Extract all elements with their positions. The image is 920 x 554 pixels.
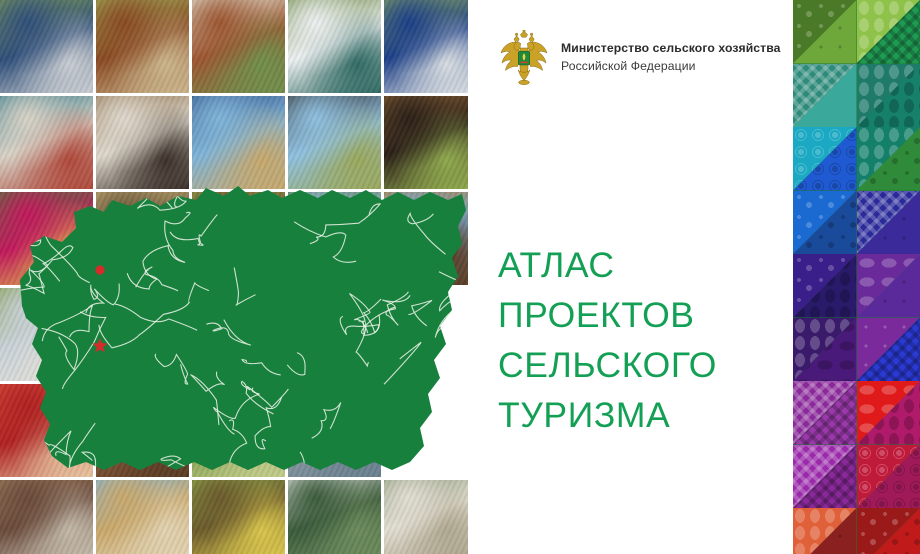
collage-photo-lakeside-wooden-houses bbox=[288, 192, 381, 285]
ornament-tile-r3-c0 bbox=[793, 191, 857, 255]
collage-photo-woman-with-horse bbox=[96, 0, 189, 93]
ornament-tile-r1-c1 bbox=[857, 64, 920, 128]
ornament-tile-r0-c1 bbox=[857, 0, 920, 64]
photo-collage bbox=[0, 0, 468, 554]
collage-photo-child-outdoors bbox=[0, 480, 93, 554]
ministry-block: Министерство сельского хозяйства Российс… bbox=[498, 30, 781, 86]
collage-photo-white-goat-standing bbox=[384, 480, 468, 554]
ornament-strip bbox=[793, 0, 920, 554]
collage-photo-petting-a-goat bbox=[0, 288, 93, 381]
ornament-tile-r0-c0 bbox=[793, 0, 857, 64]
collage-photo-blue-tractor-and-woman bbox=[384, 0, 468, 93]
ministry-title-line1: Министерство сельского хозяйства bbox=[561, 40, 781, 58]
collage-photo-children-on-hay bbox=[192, 96, 285, 189]
collage-photo-folk-dancers-in-costume bbox=[0, 192, 93, 285]
ornament-tile-r7-c0 bbox=[793, 445, 857, 509]
collage-photo-green-field-and-trees bbox=[192, 384, 285, 477]
collage-photo-caught-trout-fish bbox=[96, 192, 189, 285]
ornament-tile-r4-c1 bbox=[857, 254, 920, 318]
collage-photo-highland-cattle bbox=[384, 96, 468, 189]
page-title: АТЛАС ПРОЕКТОВ СЕЛЬСКОГО ТУРИЗМА bbox=[498, 240, 788, 440]
title-line-2: ПРОЕКТОВ bbox=[498, 290, 788, 340]
ornament-tile-r6-c0 bbox=[793, 381, 857, 445]
collage-photo-geese-swimming-on-pond bbox=[288, 480, 381, 554]
ornament-tile-r4-c0 bbox=[793, 254, 857, 318]
ministry-title-line2: Российской Федерации bbox=[561, 58, 781, 76]
collage-photo-woman-with-white-cows bbox=[96, 96, 189, 189]
collage-photo-geese-in-village-yard bbox=[288, 0, 381, 93]
ornament-tile-r2-c0 bbox=[793, 127, 857, 191]
title-line-1: АТЛАС bbox=[498, 240, 788, 290]
ornament-tile-r8-c1 bbox=[857, 508, 920, 554]
title-panel: Министерство сельского хозяйства Российс… bbox=[468, 0, 793, 554]
collage-photo-two-horses-grazing bbox=[192, 192, 285, 285]
ornament-tile-r8-c0 bbox=[793, 508, 857, 554]
collage-photo-clay-pottery-jars bbox=[96, 384, 189, 477]
collage-photo-ostriches-on-farm bbox=[288, 96, 381, 189]
collage-photo-cow-in-flower-meadow bbox=[192, 0, 285, 93]
ornament-tile-r2-c1 bbox=[857, 127, 920, 191]
ornament-tile-r6-c1 bbox=[857, 381, 920, 445]
collage-photo-folk-festival-crowd bbox=[0, 0, 93, 93]
ornament-tile-r5-c0 bbox=[793, 318, 857, 382]
ornament-tile-r7-c1 bbox=[857, 445, 920, 509]
collage-photo-goats-close-up bbox=[96, 480, 189, 554]
ornament-tile-r1-c0 bbox=[793, 64, 857, 128]
title-line-4: ТУРИЗМА bbox=[498, 390, 788, 440]
collage-photo-wooden-boat-dock bbox=[288, 384, 381, 477]
collage-photo-horse-under-autumn-tree bbox=[384, 192, 468, 285]
ornament-tile-r3-c1 bbox=[857, 191, 920, 255]
collage-photo-beekeeper-with-hive-frame bbox=[192, 480, 285, 554]
collage-photo-red-apples-harvest bbox=[0, 384, 93, 477]
ornament-tile-r5-c1 bbox=[857, 318, 920, 382]
title-line-3: СЕЛЬСКОГО bbox=[498, 340, 788, 390]
collage-photo-craft-loom-weaving bbox=[0, 96, 93, 189]
russian-double-headed-eagle-emblem bbox=[498, 30, 550, 86]
cover-page: Министерство сельского хозяйства Российс… bbox=[0, 0, 920, 554]
